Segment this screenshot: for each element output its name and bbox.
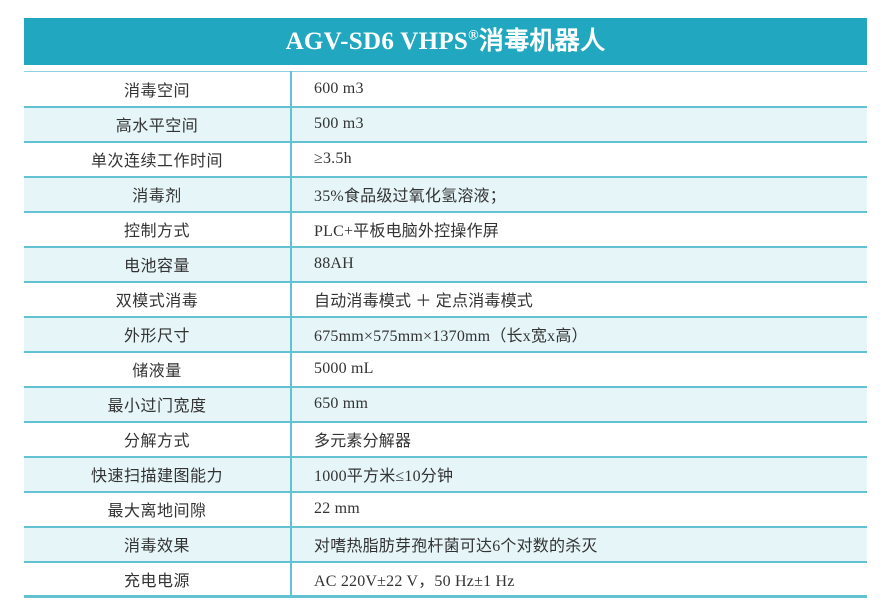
table-row: 充电电源 AC 220V±22 V，50 Hz±1 Hz xyxy=(24,562,867,597)
spec-value: ≥3.5h xyxy=(291,142,867,177)
spec-label: 最大离地间隙 xyxy=(24,492,291,527)
table-row: 快速扫描建图能力 1000平方米≤10分钟 xyxy=(24,457,867,492)
spec-label: 电池容量 xyxy=(24,247,291,282)
specification-table: 消毒空间 600 m3 高水平空间 500 m3 单次连续工作时间 ≥3.5h … xyxy=(24,71,867,598)
table-row: 储液量 5000 mL xyxy=(24,352,867,387)
product-title-bar: AGV-SD6 VHPS®消毒机器人 xyxy=(24,18,867,65)
spec-label: 快速扫描建图能力 xyxy=(24,457,291,492)
table-row: 消毒空间 600 m3 xyxy=(24,72,867,107)
spec-value: 650 mm xyxy=(291,387,867,422)
spec-value: 对嗜热脂肪芽孢杆菌可达6个对数的杀灭 xyxy=(291,527,867,562)
spec-label: 储液量 xyxy=(24,352,291,387)
spec-value: 600 m3 xyxy=(291,72,867,107)
table-row: 最小过门宽度 650 mm xyxy=(24,387,867,422)
spec-label: 最小过门宽度 xyxy=(24,387,291,422)
table-row: 单次连续工作时间 ≥3.5h xyxy=(24,142,867,177)
table-row: 双模式消毒 自动消毒模式 ＋ 定点消毒模式 xyxy=(24,282,867,317)
spec-sheet: AGV-SD6 VHPS®消毒机器人 消毒空间 600 m3 高水平空间 500… xyxy=(0,0,884,601)
registered-trademark-icon: ® xyxy=(468,29,479,44)
table-row: 电池容量 88AH xyxy=(24,247,867,282)
spec-label: 消毒空间 xyxy=(24,72,291,107)
product-title-main: AGV-SD6 VHPS xyxy=(286,28,469,55)
spec-value: 1000平方米≤10分钟 xyxy=(291,457,867,492)
spec-value: 35%食品级过氧化氢溶液； xyxy=(291,177,867,212)
table-row: 控制方式 PLC+平板电脑外控操作屏 xyxy=(24,212,867,247)
spec-label: 单次连续工作时间 xyxy=(24,142,291,177)
spec-value: 88AH xyxy=(291,247,867,282)
spec-value: 5000 mL xyxy=(291,352,867,387)
spec-value: 自动消毒模式 ＋ 定点消毒模式 xyxy=(291,282,867,317)
spec-value: 675mm×575mm×1370mm（长x宽x高） xyxy=(291,317,867,352)
spec-value: 500 m3 xyxy=(291,107,867,142)
spec-value: 多元素分解器 xyxy=(291,422,867,457)
spec-label: 消毒效果 xyxy=(24,527,291,562)
spec-value: 22 mm xyxy=(291,492,867,527)
spec-label: 外形尺寸 xyxy=(24,317,291,352)
spec-label: 充电电源 xyxy=(24,562,291,597)
spec-label: 控制方式 xyxy=(24,212,291,247)
spec-label: 高水平空间 xyxy=(24,107,291,142)
spec-label: 双模式消毒 xyxy=(24,282,291,317)
spec-value: PLC+平板电脑外控操作屏 xyxy=(291,212,867,247)
specification-table-body: 消毒空间 600 m3 高水平空间 500 m3 单次连续工作时间 ≥3.5h … xyxy=(24,72,867,597)
table-row: 分解方式 多元素分解器 xyxy=(24,422,867,457)
spec-value: AC 220V±22 V，50 Hz±1 Hz xyxy=(291,562,867,597)
table-row: 消毒剂 35%食品级过氧化氢溶液； xyxy=(24,177,867,212)
spec-label: 消毒剂 xyxy=(24,177,291,212)
table-row: 最大离地间隙 22 mm xyxy=(24,492,867,527)
table-row: 外形尺寸 675mm×575mm×1370mm（长x宽x高） xyxy=(24,317,867,352)
product-title-tail: 消毒机器人 xyxy=(479,28,606,55)
table-row: 高水平空间 500 m3 xyxy=(24,107,867,142)
table-row: 消毒效果 对嗜热脂肪芽孢杆菌可达6个对数的杀灭 xyxy=(24,527,867,562)
spec-label: 分解方式 xyxy=(24,422,291,457)
page-title: AGV-SD6 VHPS®消毒机器人 xyxy=(286,29,606,54)
